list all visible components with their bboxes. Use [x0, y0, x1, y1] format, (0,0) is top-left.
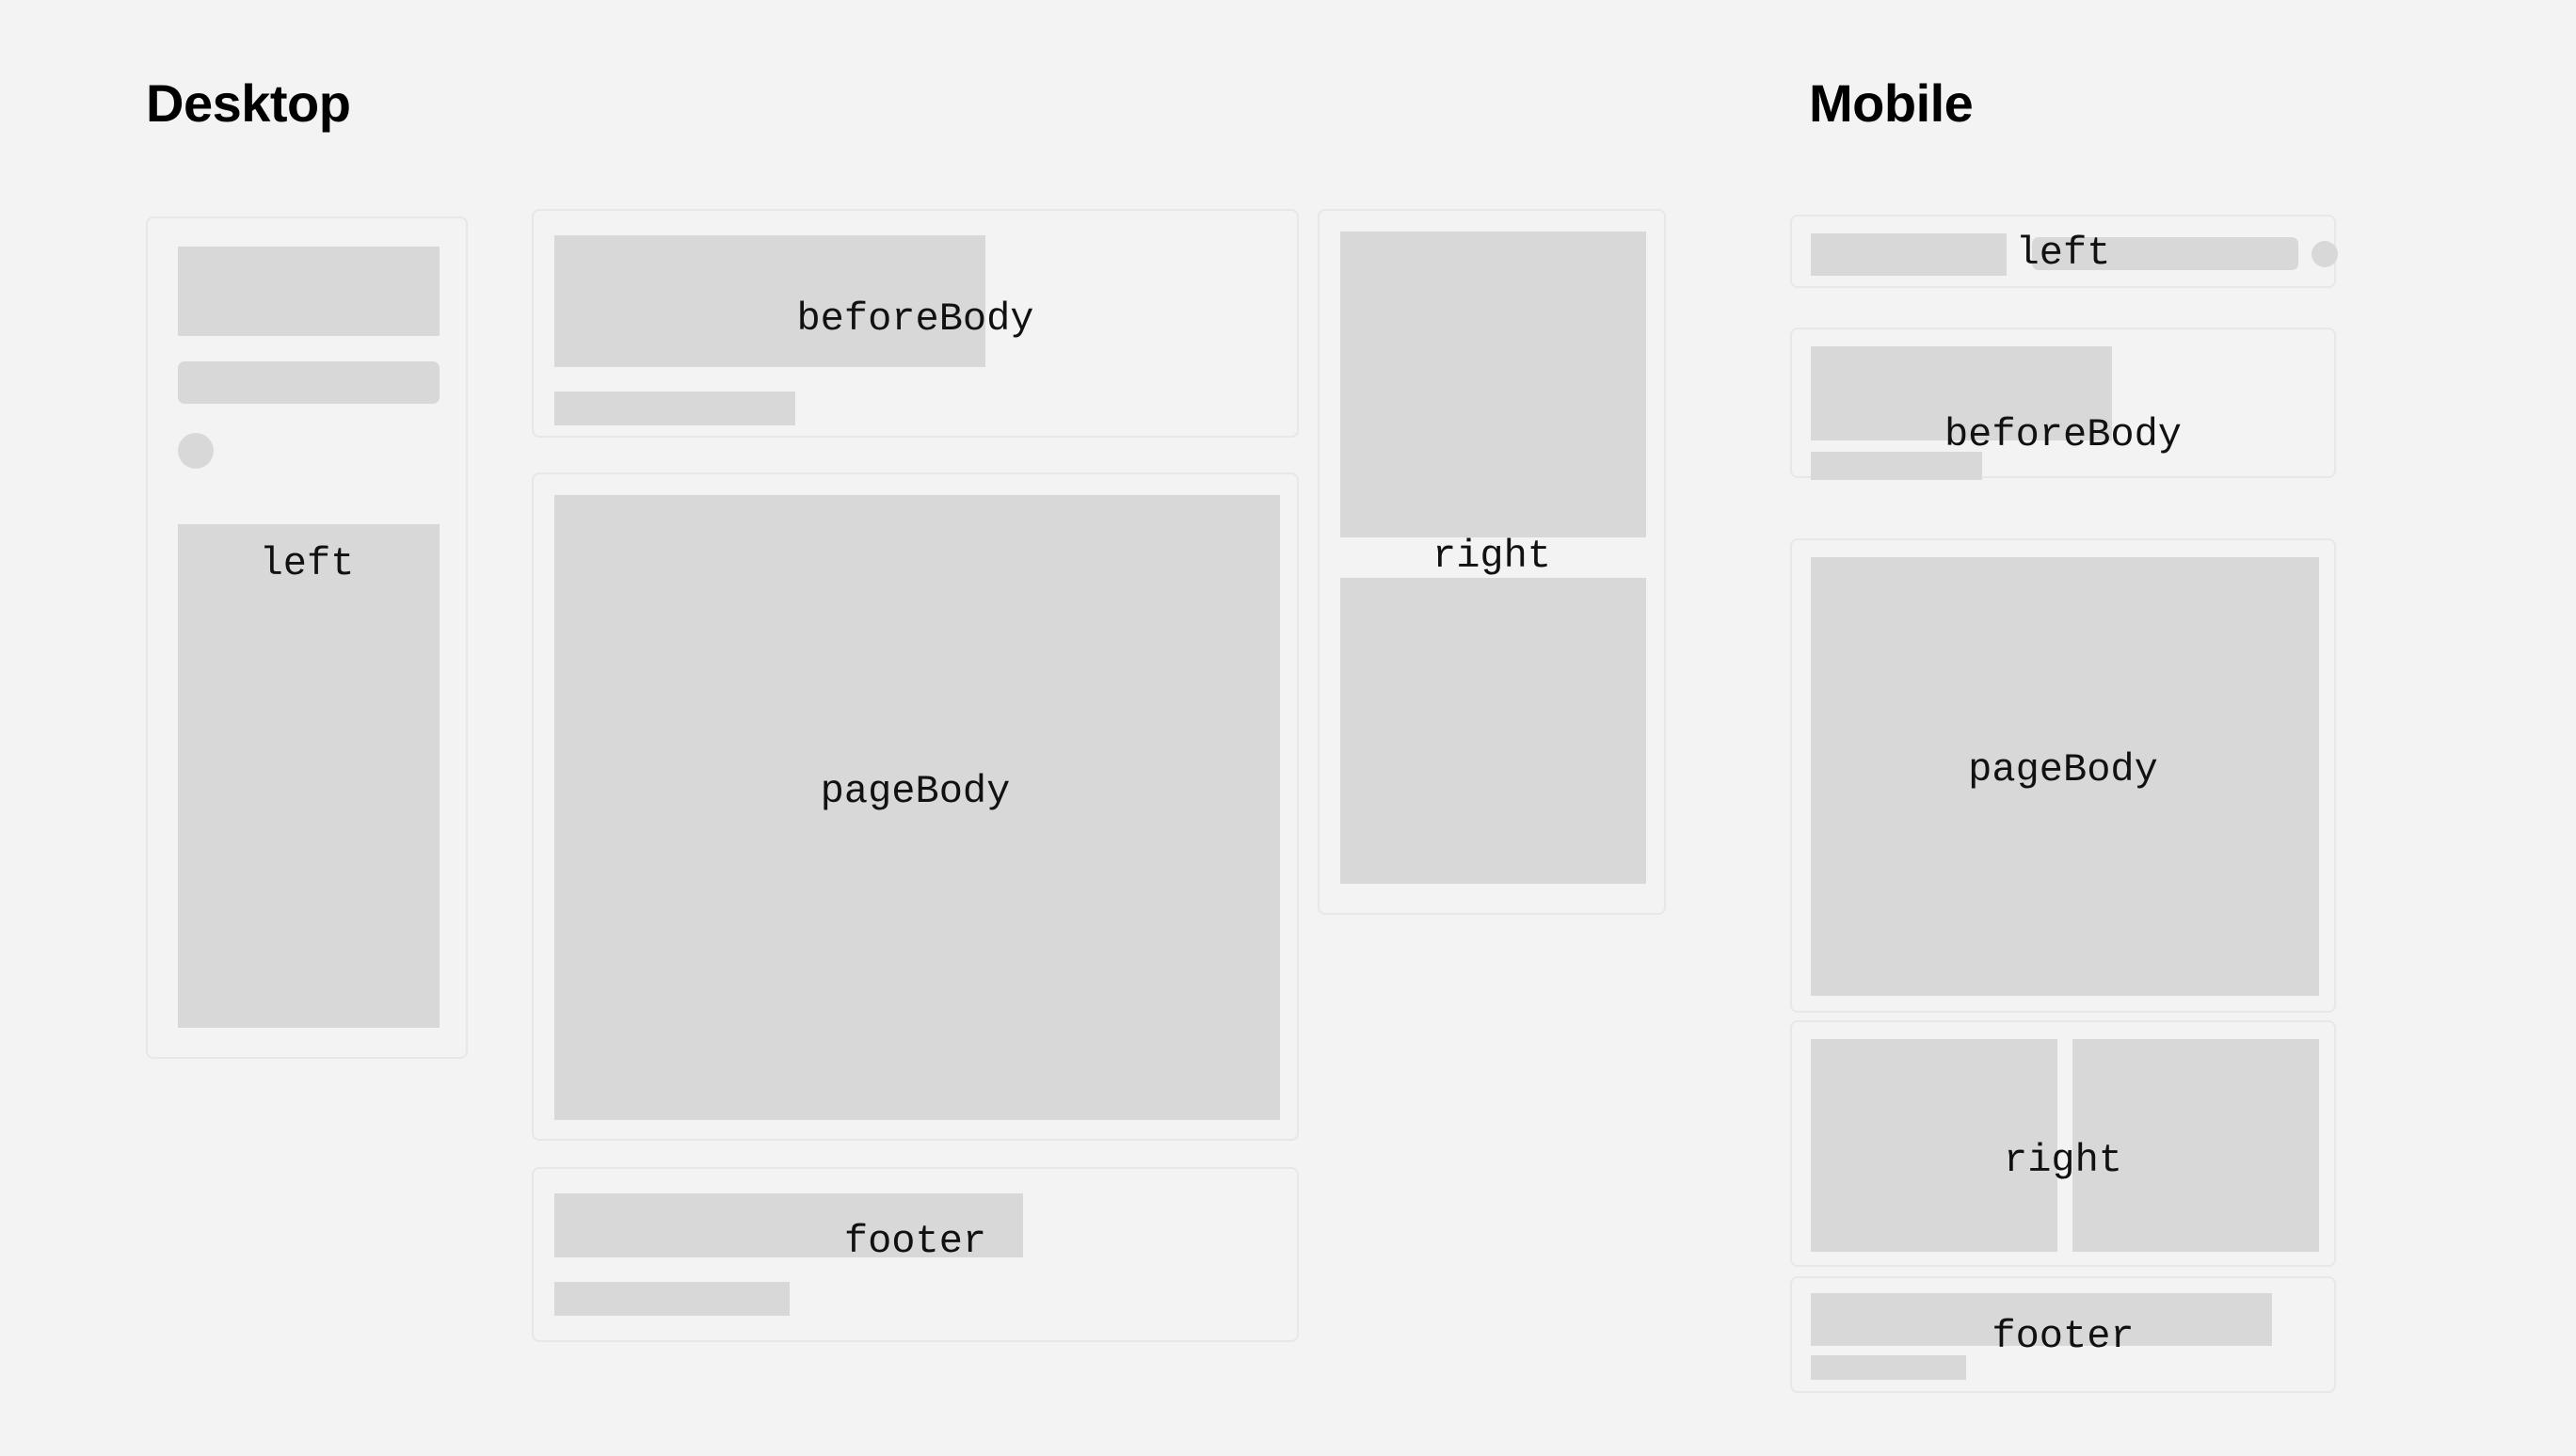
mobile-slot-left-panel[interactable]	[1790, 215, 2336, 288]
desktop-slot-pagebody-panel[interactable]	[532, 472, 1299, 1141]
skeleton-block	[178, 247, 440, 336]
skeleton-block	[1811, 233, 2007, 276]
wireframe-stage: Desktop left beforeBody pageBody right f…	[0, 0, 2576, 1456]
skeleton-block-large	[1811, 557, 2319, 996]
skeleton-block	[554, 235, 985, 367]
skeleton-block	[2072, 1039, 2319, 1252]
skeleton-block	[1340, 232, 1646, 537]
desktop-slot-beforebody-panel[interactable]	[532, 209, 1299, 438]
skeleton-block-small	[554, 1282, 790, 1316]
skeleton-block-small	[554, 392, 795, 425]
skeleton-block	[1811, 1039, 2057, 1252]
skeleton-pill	[178, 361, 440, 404]
skeleton-block	[1811, 346, 2112, 440]
skeleton-avatar-circle	[178, 433, 214, 469]
skeleton-block-tall	[178, 524, 440, 1028]
mobile-slot-footer-panel[interactable]	[1790, 1276, 2336, 1393]
mobile-slot-pagebody-panel[interactable]	[1790, 538, 2336, 1013]
mobile-section-heading: Mobile	[1809, 77, 1973, 130]
skeleton-avatar-circle	[2312, 241, 2338, 267]
skeleton-block	[1811, 1293, 2272, 1346]
skeleton-block-large	[554, 495, 1280, 1120]
skeleton-block-small	[1811, 1355, 1966, 1380]
skeleton-block	[554, 1193, 1023, 1257]
skeleton-block-small	[1811, 452, 1982, 480]
desktop-slot-right-panel[interactable]	[1318, 209, 1666, 915]
skeleton-block	[1340, 578, 1646, 884]
desktop-slot-footer-panel[interactable]	[532, 1167, 1299, 1342]
desktop-section-heading: Desktop	[146, 77, 350, 130]
desktop-slot-left-panel[interactable]	[146, 216, 468, 1059]
skeleton-pill	[2032, 237, 2298, 270]
mobile-slot-beforebody-panel[interactable]	[1790, 328, 2336, 478]
mobile-slot-right-panel[interactable]	[1790, 1020, 2336, 1267]
